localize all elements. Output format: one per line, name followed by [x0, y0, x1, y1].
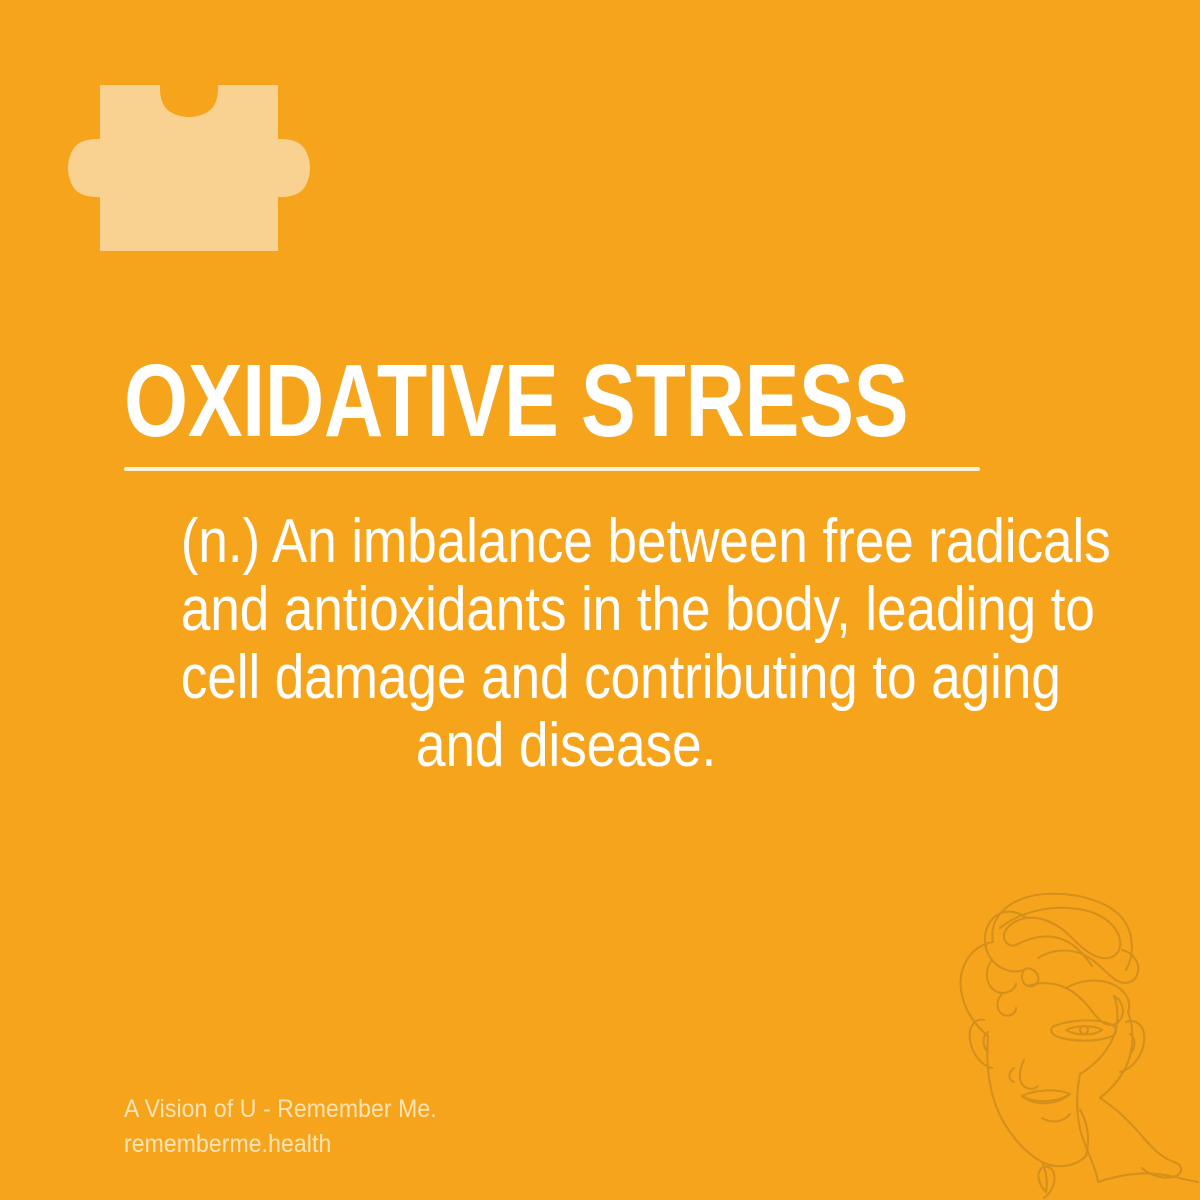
- definition-line: and antioxidants in the body, leading to: [181, 576, 952, 644]
- definition-line: cell damage and contributing to aging: [181, 644, 952, 712]
- line-art-face-icon: [930, 870, 1200, 1200]
- footer-website[interactable]: rememberme.health: [124, 1127, 437, 1162]
- definition-line: (n.) An imbalance between free radicals: [181, 508, 952, 576]
- definition-card: OXIDATIVE STRESS (n.) An imbalance betwe…: [0, 0, 1200, 1200]
- definition-block: (n.) An imbalance between free radicals …: [118, 508, 1014, 780]
- footer-brand: A Vision of U - Remember Me.: [124, 1092, 437, 1127]
- puzzle-piece-icon: [42, 78, 320, 256]
- title-divider: [124, 467, 980, 471]
- definition-line: and disease.: [181, 712, 952, 780]
- title-block: OXIDATIVE STRESS: [124, 352, 980, 471]
- footer-block: A Vision of U - Remember Me. rememberme.…: [124, 1092, 464, 1162]
- page-title: OXIDATIVE STRESS: [124, 352, 809, 451]
